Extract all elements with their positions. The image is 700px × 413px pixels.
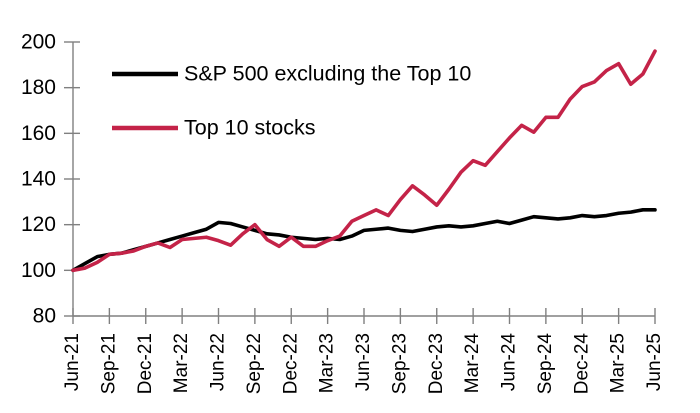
y-tick-label: 140 [21, 168, 56, 191]
y-tick-label: 200 [21, 31, 56, 54]
chart-container: 80100120140160180200 Jun-21Sep-21Dec-21M… [0, 0, 700, 413]
x-tick-label: Jun-25 [644, 333, 665, 391]
y-axis: 80100120140160180200 [21, 31, 80, 328]
x-tick-label: Sep-24 [535, 333, 556, 395]
x-tick-label: Dec-21 [135, 333, 156, 394]
legend-label: Top 10 stocks [184, 116, 315, 140]
x-axis: Jun-21Sep-21Dec-21Mar-22Jun-22Sep-22Dec-… [62, 308, 665, 394]
legend-label: S&P 500 excluding the Top 10 [184, 62, 471, 86]
series-line [73, 210, 655, 271]
x-tick-label: Mar-25 [608, 333, 629, 393]
x-tick-label: Mar-24 [462, 333, 483, 394]
line-chart: 80100120140160180200 Jun-21Sep-21Dec-21M… [0, 0, 700, 413]
x-tick-label: Dec-23 [426, 333, 447, 394]
x-tick-label: Jun-22 [208, 333, 229, 391]
x-tick-label: Sep-22 [244, 333, 265, 394]
y-tick-label: 100 [21, 259, 56, 282]
y-tick-label: 180 [21, 76, 56, 99]
chart-legend: S&P 500 excluding the Top 10Top 10 stock… [112, 62, 471, 140]
x-tick-label: Sep-21 [98, 333, 119, 394]
y-tick-label: 120 [21, 213, 56, 236]
x-tick-label: Mar-23 [317, 333, 338, 393]
y-tick-label: 80 [33, 305, 56, 328]
x-tick-label: Dec-22 [280, 333, 301, 394]
x-tick-label: Jun-21 [62, 333, 83, 391]
y-tick-label: 160 [21, 122, 56, 145]
x-tick-label: Jun-24 [499, 333, 520, 392]
x-tick-label: Sep-23 [389, 333, 410, 394]
x-tick-label: Mar-22 [171, 333, 192, 393]
x-tick-label: Dec-24 [571, 333, 592, 395]
x-tick-label: Jun-23 [353, 333, 374, 391]
